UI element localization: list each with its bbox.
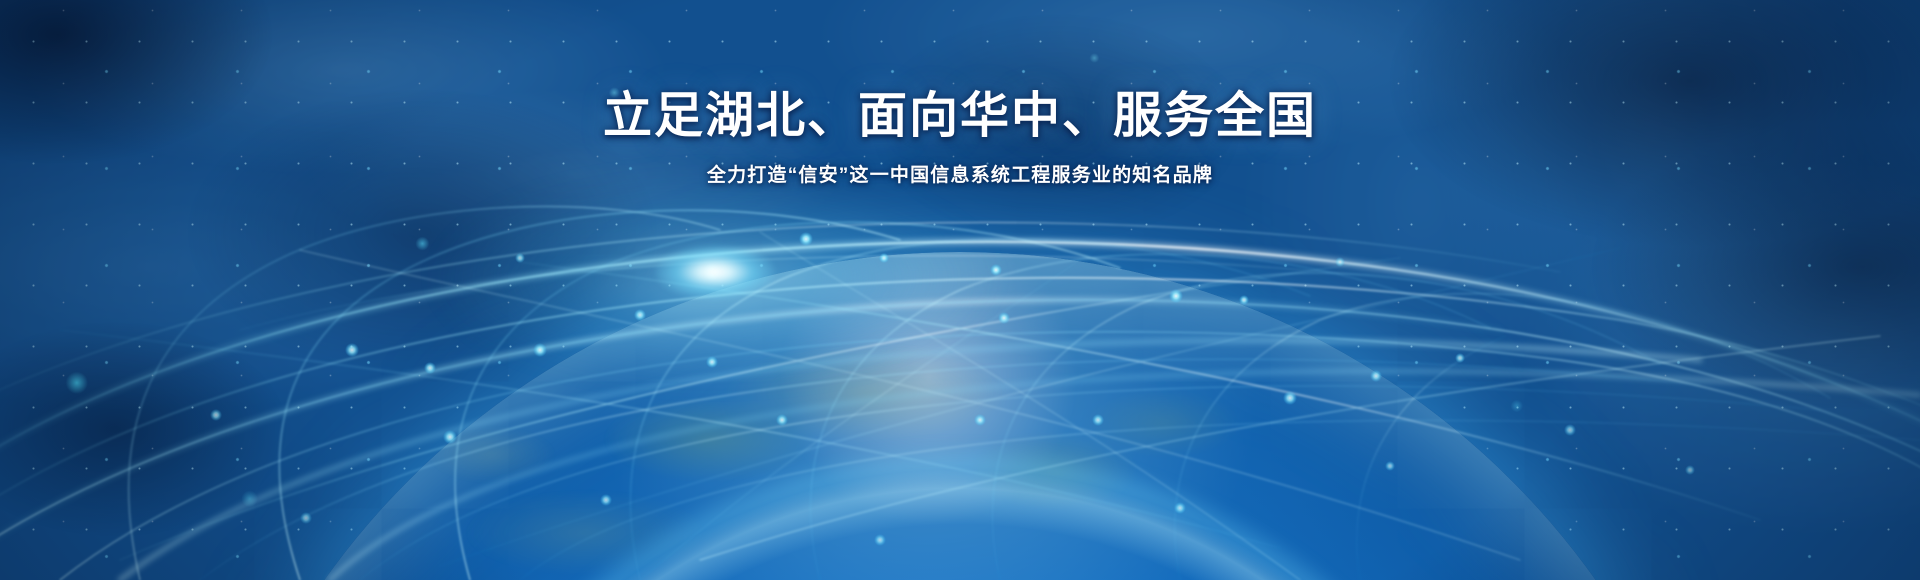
page-subtitle: 全力打造“信安”这一中国信息系统工程服务业的知名品牌 xyxy=(0,146,1920,191)
hero-banner: 立足湖北、面向华中、服务全国 全力打造“信安”这一中国信息系统工程服务业的知名品… xyxy=(0,0,1920,580)
page-title: 立足湖北、面向华中、服务全国 xyxy=(0,0,1920,146)
banner-copy: 立足湖北、面向华中、服务全国 全力打造“信安”这一中国信息系统工程服务业的知名品… xyxy=(0,0,1920,190)
network-glow-hotspot xyxy=(655,245,775,299)
